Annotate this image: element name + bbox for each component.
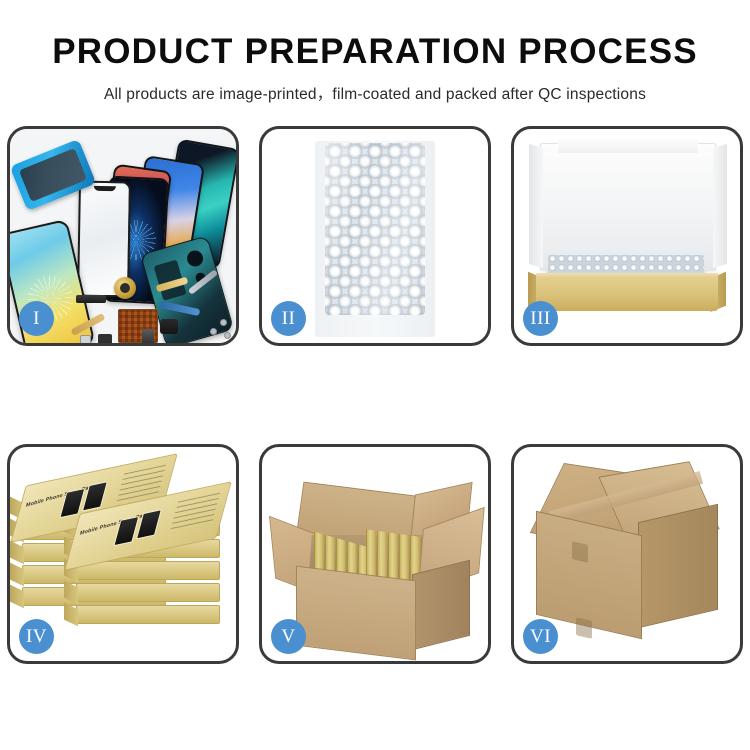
process-step-panel-5[interactable]: V [259,444,491,664]
screw-part-2 [211,329,216,334]
stacked-box [76,561,220,580]
step-badge-3: III [523,301,558,336]
step-badge-5: V [271,619,306,654]
process-step-panel-3[interactable]: III [511,126,743,346]
stacked-box [76,583,220,602]
camera-module-part [160,319,178,334]
page-header: PRODUCT PREPARATION PROCESS All products… [0,0,750,104]
screw-part-1 [221,320,226,325]
process-step-panel-1[interactable]: I [7,126,239,346]
button-part [98,334,112,346]
step-badge-1: I [19,301,54,336]
carton-front-face [296,566,416,661]
page-title: PRODUCT PREPARATION PROCESS [0,34,750,69]
carton-side-face [638,504,718,628]
carton-hand-hole-1 [572,541,588,563]
vibration-motor-part [114,277,136,299]
speaker-part [76,295,106,303]
step-badge-2: II [271,301,306,336]
step-badge-4: IV [19,619,54,654]
process-step-panel-6[interactable]: VI [511,444,743,664]
step-badge-6: VI [523,619,558,654]
process-step-panel-2[interactable]: II [259,126,491,346]
carton-side-face [412,560,470,650]
carton-hand-hole-2 [576,617,592,639]
stacked-box [76,605,220,624]
page-subtitle: All products are image-printed，film-coat… [0,82,750,104]
bubble-wrap-sheet [325,143,425,315]
battery-connector-part [142,329,154,345]
box-spec-text [170,493,221,534]
process-step-panel-4[interactable]: Mobile Phone Spare Parts Mobile Phone Sp… [7,444,239,664]
screw-part-3 [225,333,230,338]
sim-tray-part [80,335,91,346]
kraft-box-front [536,277,718,311]
process-steps-grid: I II III [7,126,743,664]
